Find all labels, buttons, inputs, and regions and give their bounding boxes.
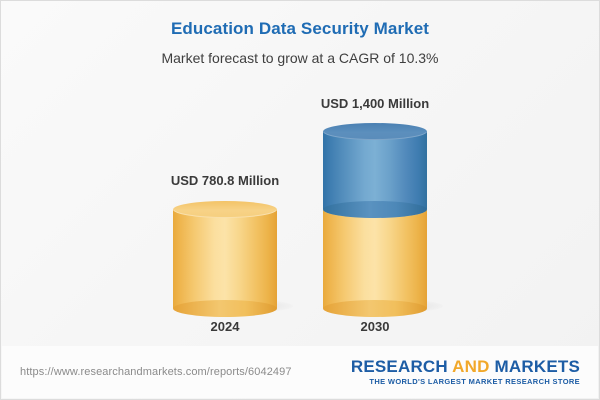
chart-plot-area: Education Data Security Market Market fo… — [1, 1, 599, 346]
chart-title: Education Data Security Market — [1, 19, 599, 39]
axis-label-2030: 2030 — [265, 319, 485, 334]
cylinder-base-ellipse — [323, 201, 427, 218]
cylinder-base-ellipse — [323, 300, 427, 317]
cylinder-body — [323, 131, 427, 209]
logo-wordmark: RESEARCH AND MARKETS — [351, 358, 580, 376]
cylinder-top-ellipse — [323, 123, 427, 140]
logo-text-and: AND — [452, 357, 489, 376]
bar-2024-segment-base — [173, 201, 277, 308]
bar-2030 — [323, 123, 427, 308]
research-and-markets-logo[interactable]: RESEARCH AND MARKETS THE WORLD'S LARGEST… — [351, 358, 580, 386]
bar-2030-segment-growth — [323, 123, 427, 209]
cylinder-body — [323, 209, 427, 308]
chart-subtitle: Market forecast to grow at a CAGR of 10.… — [1, 50, 599, 66]
logo-text-markets: MARKETS — [490, 357, 580, 376]
logo-tagline: THE WORLD'S LARGEST MARKET RESEARCH STOR… — [351, 378, 580, 386]
logo-text-research: RESEARCH — [351, 357, 452, 376]
cylinder-body — [173, 209, 277, 308]
cylinder-base-ellipse — [173, 300, 277, 317]
figure-footer: https://www.researchandmarkets.com/repor… — [2, 346, 598, 398]
bar-2024 — [173, 201, 277, 308]
bar-2030-value-label: USD 1,400 Million — [265, 96, 485, 111]
bar-2024-value-label: USD 780.8 Million — [115, 173, 335, 188]
source-url[interactable]: https://www.researchandmarkets.com/repor… — [20, 366, 292, 378]
chart-figure: Education Data Security Market Market fo… — [0, 0, 600, 400]
cylinder-top-ellipse — [173, 201, 277, 218]
